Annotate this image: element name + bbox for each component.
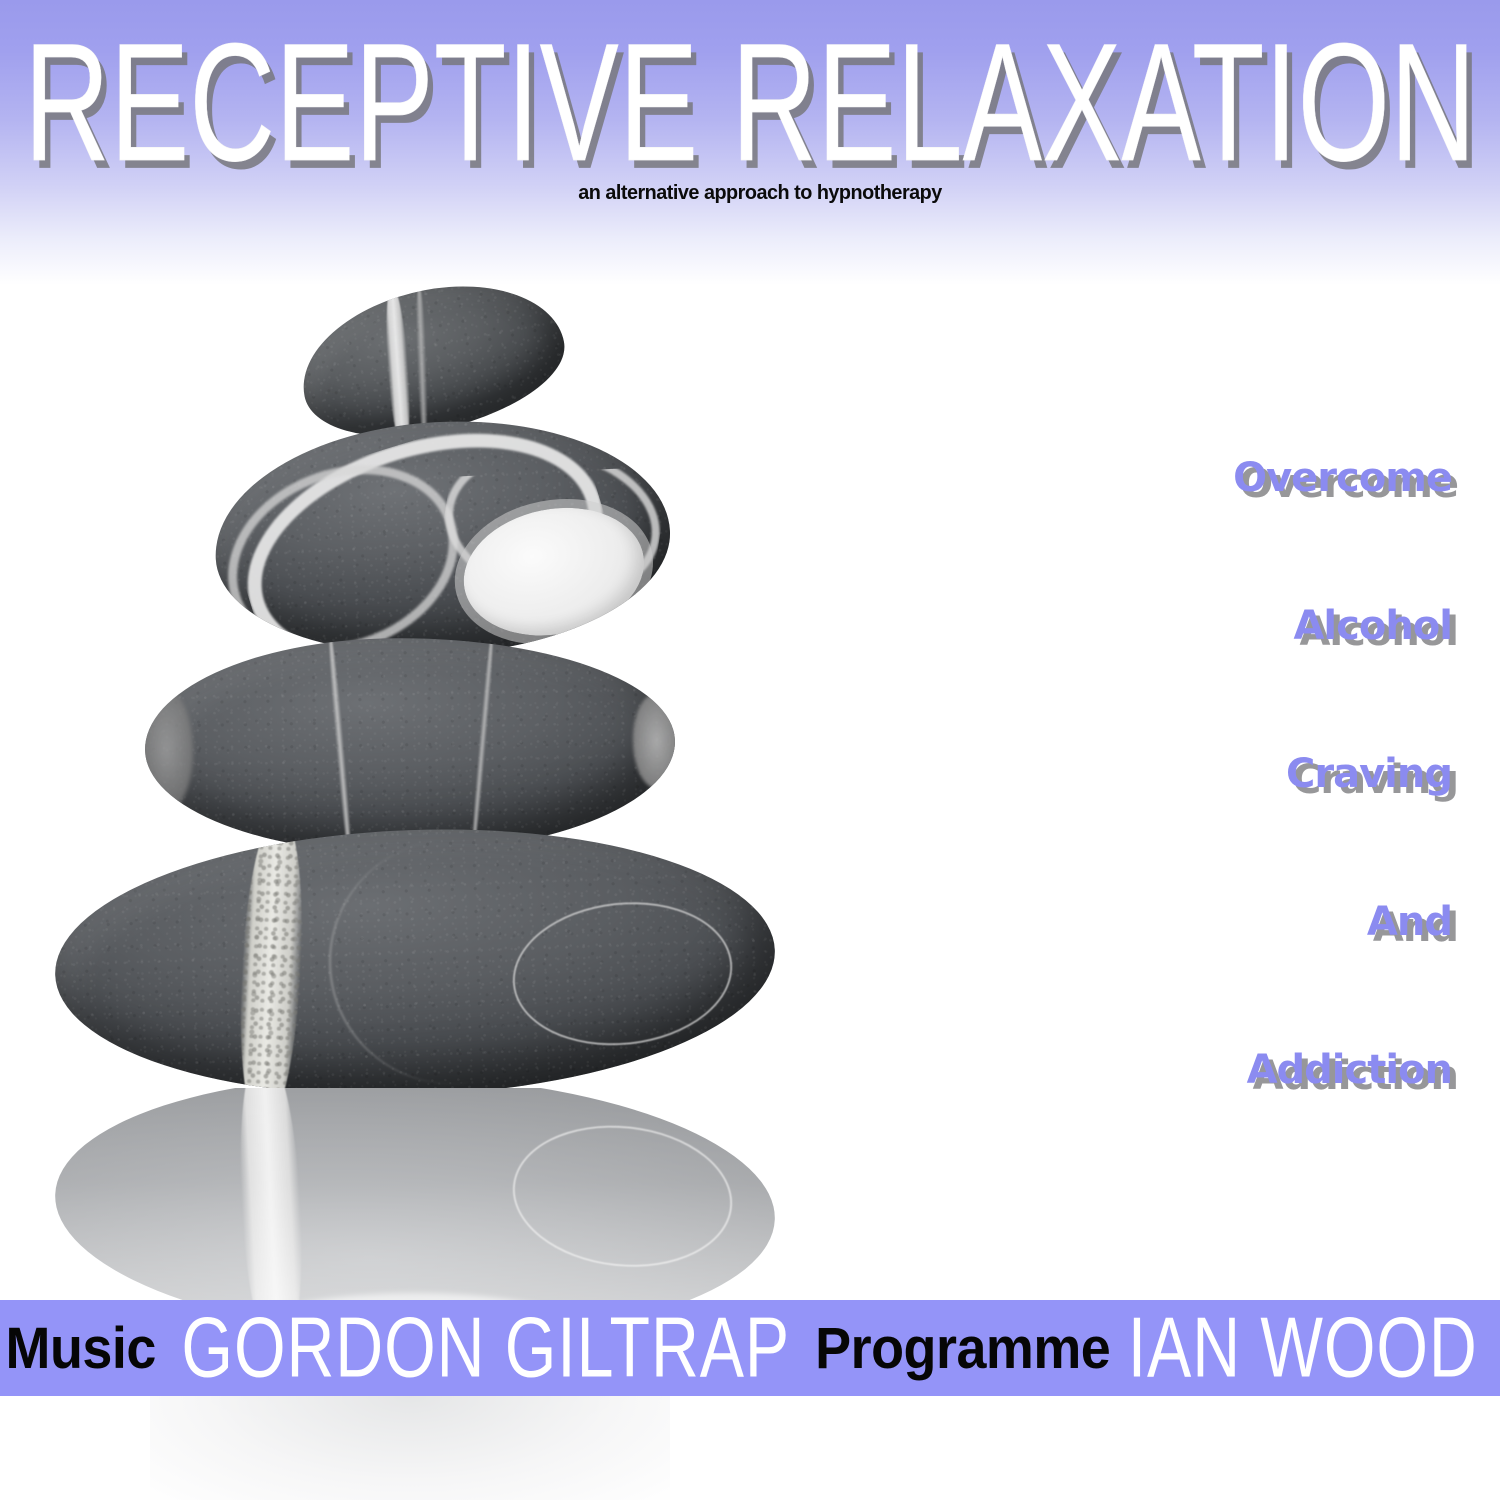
subtitle: an alternative approach to hypnotherapy <box>57 182 1463 205</box>
pebble-second <box>209 410 676 665</box>
below-bar-reflection <box>150 1396 670 1500</box>
pebble-body <box>209 410 676 665</box>
credits-bar: Music GORDON GILTRAP Programme IAN WOOD <box>0 1300 1500 1396</box>
headline-line-craving: Craving <box>672 700 1452 848</box>
headline-line-alcohol: Alcohol <box>672 552 1452 700</box>
music-label: Music <box>6 1314 156 1382</box>
credits-row: Music GORDON GILTRAP Programme IAN WOOD <box>15 1300 1485 1396</box>
music-credit: GORDON GILTRAP <box>181 1300 790 1396</box>
headline-line-and: And <box>672 848 1452 996</box>
headline-line-overcome: Overcome <box>672 404 1452 552</box>
headline-block: Overcome Alcohol Craving And Addiction <box>672 404 1452 1144</box>
pebble-body <box>51 818 780 1108</box>
album-cover: RECEPTIVE RELAXATION an alternative appr… <box>0 0 1500 1500</box>
header-banner: RECEPTIVE RELAXATION an alternative appr… <box>0 0 1500 285</box>
programme-credit: IAN WOOD <box>1127 1300 1477 1396</box>
pebble-bottom <box>51 818 780 1108</box>
page-title: RECEPTIVE RELAXATION <box>24 10 1175 195</box>
programme-label: Programme <box>815 1314 1110 1382</box>
headline-line-addiction: Addiction <box>672 996 1452 1144</box>
